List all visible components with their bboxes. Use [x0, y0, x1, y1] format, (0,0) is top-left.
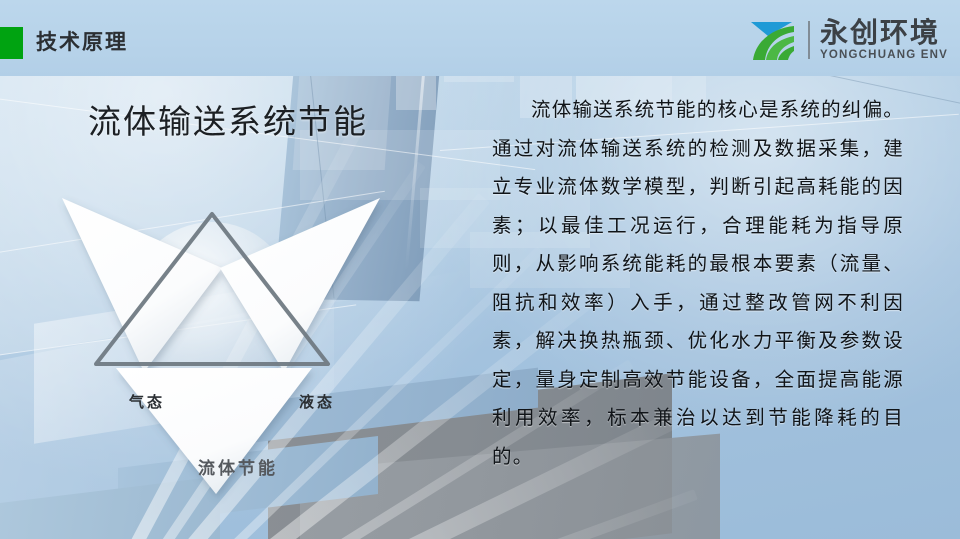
diagram-graphic [40, 176, 420, 506]
page-title: 技术原理 [36, 28, 128, 58]
diagram-label-liquid: 液态 [272, 392, 362, 414]
brand-logo: 永创环境 YONGCHUANG ENV [748, 16, 948, 64]
slide-header: 技术原理 永创环境 YONGCHUANG ENV [0, 0, 960, 76]
diagram-label-gas: 气态 [102, 392, 192, 414]
logo-name-en: YONGCHUANG ENV [820, 50, 948, 62]
leaf-swoosh-logo-icon [748, 18, 798, 62]
logo-divider [808, 21, 810, 59]
header-accent-marker [0, 27, 23, 59]
presentation-slide: 技术原理 永创环境 YONGCHUANG ENV 流体输送系统节能 [0, 0, 960, 539]
deck-title: 流体输送系统节能 [88, 101, 368, 143]
logo-wordmark: 永创环境 YONGCHUANG ENV [820, 19, 948, 62]
fluid-energy-triangle-diagram: 气态 液态 气液 混合 流体节能 [40, 176, 420, 506]
logo-name-cn: 永创环境 [820, 19, 948, 47]
body-paragraph: 流体输送系统节能的核心是系统的纠偏。通过对流体输送系统的检测及数据采集，建立专业… [492, 92, 904, 477]
diagram-label-core: 流体节能 [168, 458, 308, 480]
